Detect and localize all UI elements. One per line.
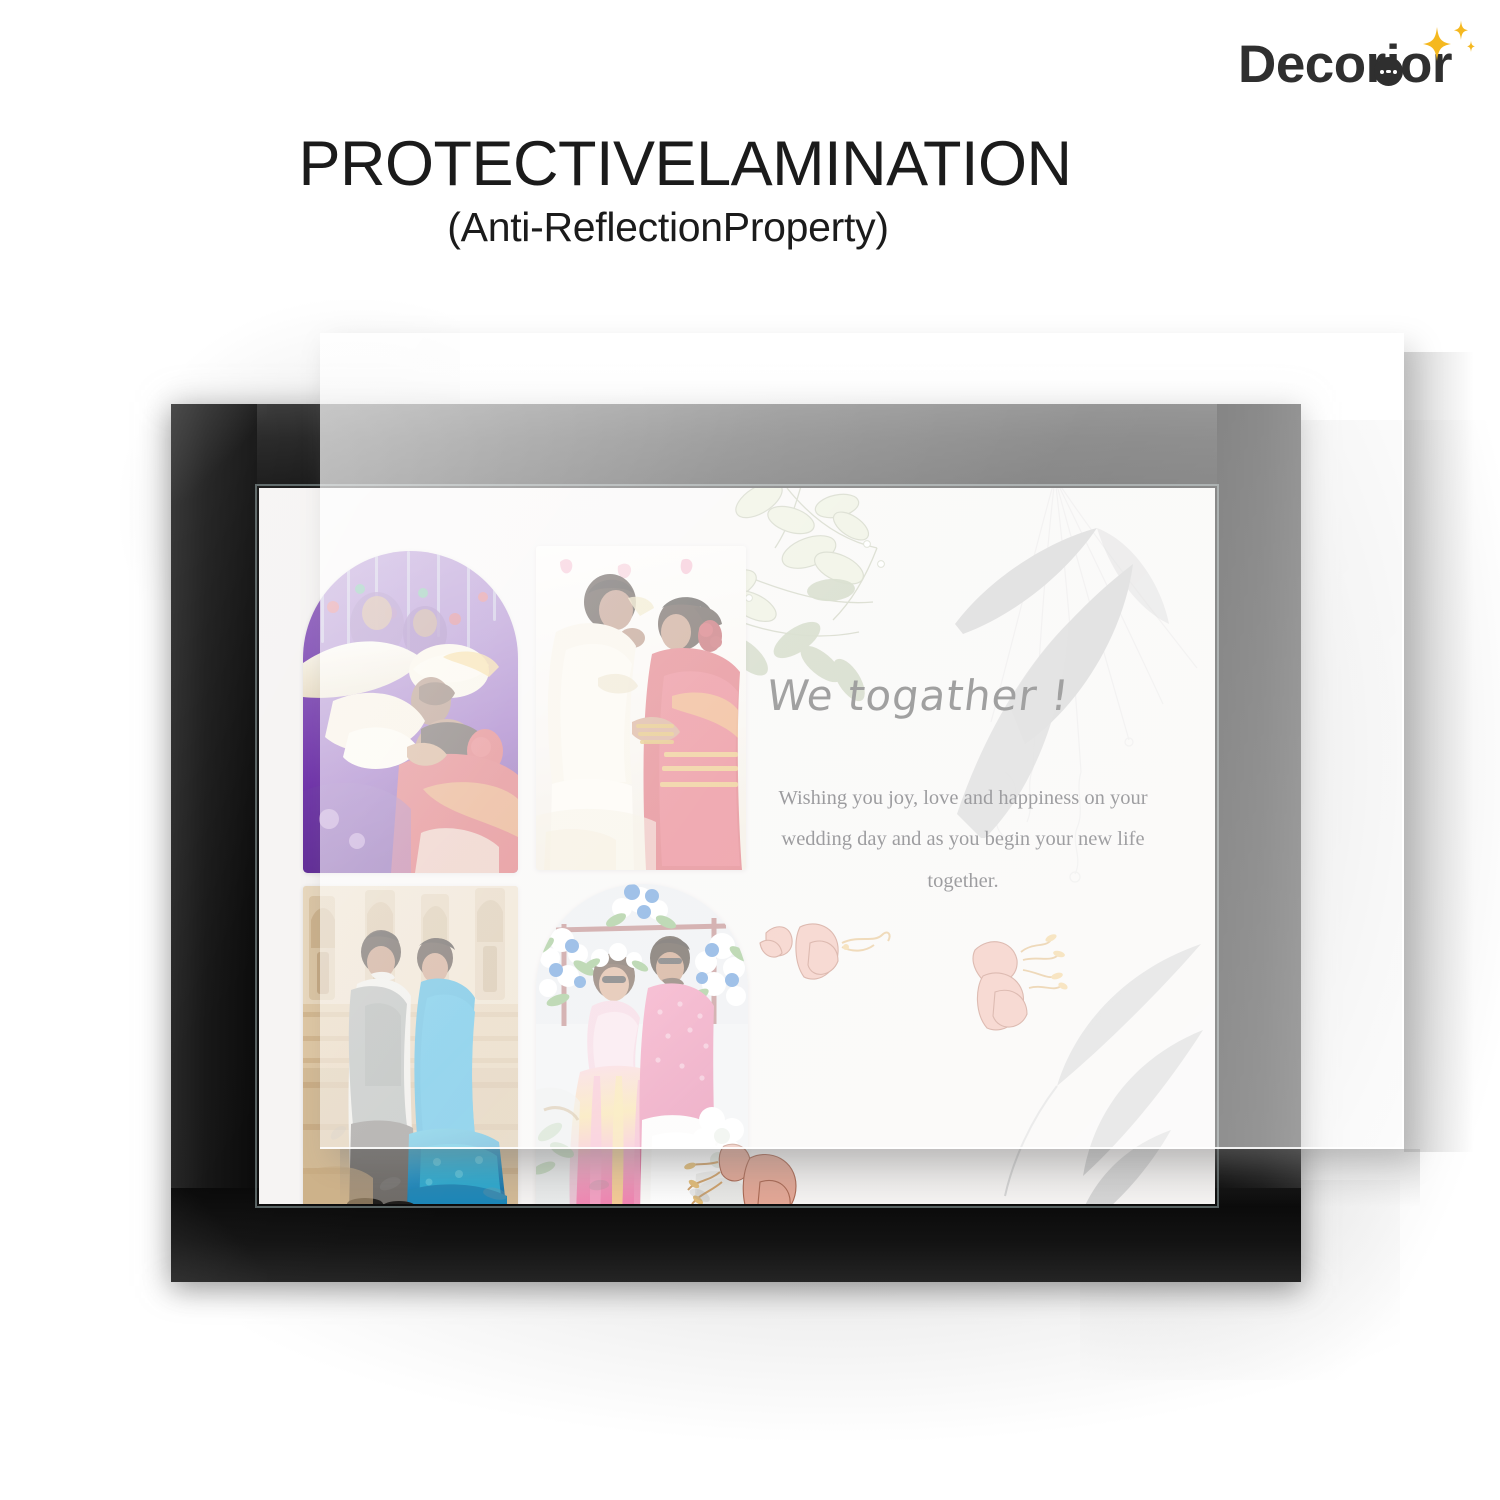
page-subtitle: (Anti-ReflectionProperty) [0, 204, 1336, 251]
greeting-card: We togather ! Wishing you joy, love and … [259, 488, 1215, 1204]
collage-photo-1 [303, 551, 518, 873]
product-marketing-image: Decorior PROTECTIVELAMINATION (Anti-Refl… [0, 0, 1500, 1500]
photo-frame: We togather ! Wishing you joy, love and … [171, 404, 1301, 1282]
laminate-shadow-right [1404, 352, 1474, 1152]
card-greeting-heading: We togather ! [764, 671, 1072, 720]
frame-miter-bottom-left [171, 1186, 267, 1282]
frame-edge-left [171, 404, 257, 1282]
photo-3-image [303, 886, 518, 1204]
grey-leaf-silhouette-icon [965, 934, 1205, 1204]
pink-tulip-flower-icon [754, 913, 904, 1005]
brand-logo: Decorior [1238, 38, 1452, 91]
page-title: PROTECTIVELAMINATION [0, 128, 1370, 200]
pink-tulip-flower-icon [959, 926, 1089, 1046]
sparkle-icon [1420, 19, 1478, 63]
frame-edge-right [1217, 404, 1301, 1282]
collage-photo-3 [303, 886, 518, 1204]
collage-photo-4 [536, 884, 748, 1204]
frame-edge-top [171, 404, 1301, 500]
photo-4-image [536, 884, 748, 1204]
photo-1-image [303, 551, 518, 873]
frame-miter-top-left [171, 404, 267, 500]
card-message-text: Wishing you joy, love and happiness on y… [751, 778, 1175, 902]
collage-photo-2 [536, 546, 746, 870]
laminate-edge-right [1402, 333, 1404, 1149]
photo-2-image [536, 546, 746, 870]
logo-face-icon [1374, 57, 1403, 86]
frame-mat: We togather ! Wishing you joy, love and … [259, 488, 1215, 1204]
